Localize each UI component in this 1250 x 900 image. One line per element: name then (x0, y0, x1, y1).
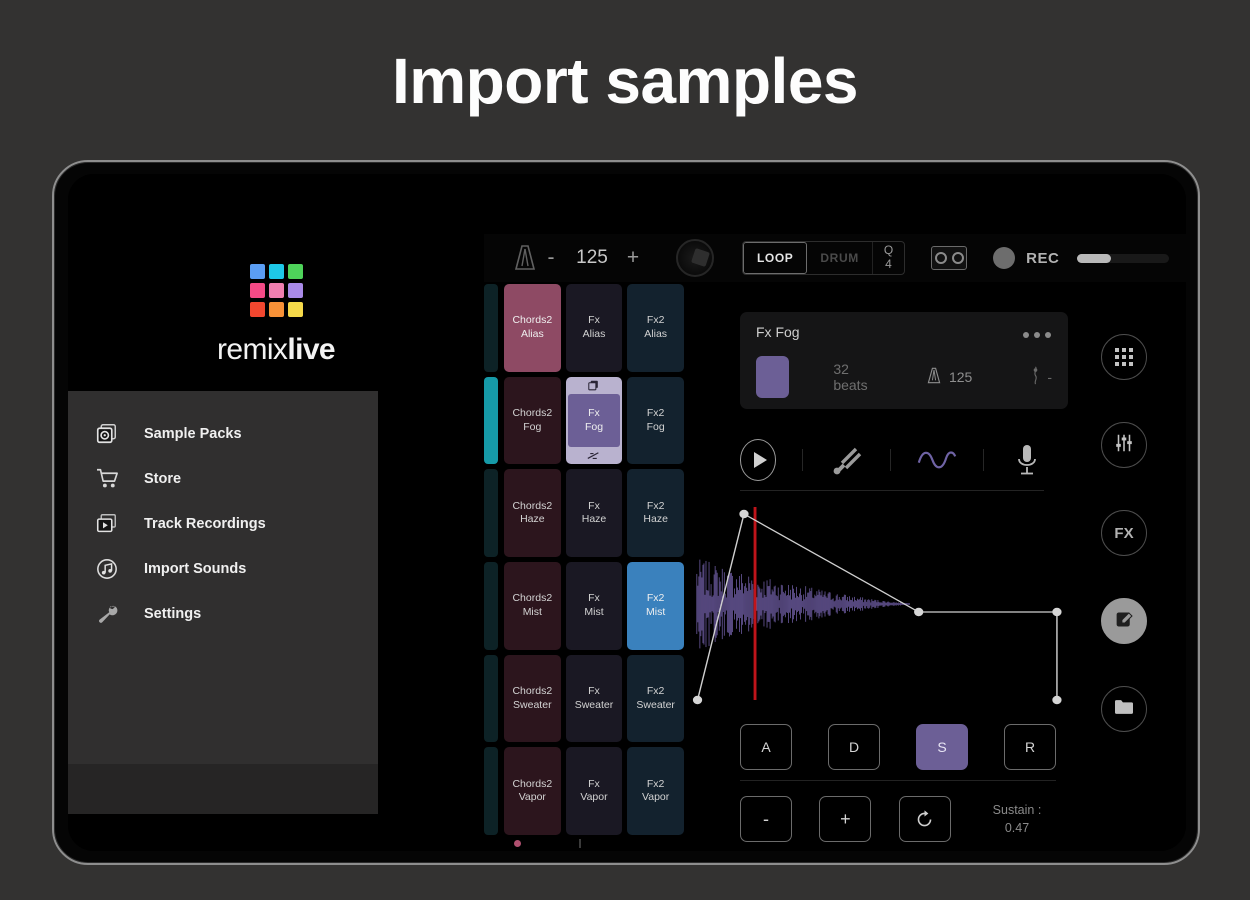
remixlive-app: - 125 + LOOP DRUM Q 4 (68, 174, 1186, 851)
microphone-icon[interactable] (1010, 443, 1044, 477)
mode-loop-button[interactable]: LOOP (743, 242, 807, 274)
tape-reel-icon[interactable] (931, 246, 967, 270)
pad-copy-icon[interactable] (566, 377, 623, 394)
wrench-icon (96, 603, 136, 624)
app-logo: remixlive (68, 264, 484, 367)
pad-column-partial[interactable] (484, 282, 498, 835)
tool-row-divider (740, 490, 1044, 491)
pad-fx2-sweater[interactable]: Fx2Sweater (627, 655, 684, 743)
pad-label: FxSweater (575, 685, 614, 712)
pad-chords2-sweater[interactable]: Chords2Sweater (504, 655, 561, 743)
menu-item-label: Track Recordings (144, 516, 266, 532)
envelope-handle-1[interactable] (739, 510, 748, 518)
pad-fx-haze[interactable]: FxHaze (566, 469, 623, 557)
dot-3 (1045, 332, 1051, 338)
logo-cell-3 (250, 283, 265, 298)
pad-partial-0[interactable] (484, 284, 498, 372)
folder-icon (1113, 698, 1135, 720)
pad-label: Chords2Vapor (512, 778, 552, 805)
quantize-button[interactable]: Q 4 (873, 242, 904, 274)
logo-cell-2 (288, 264, 303, 279)
envelope-readout: Sustain : 0.47 (978, 801, 1056, 837)
music-note-icon (1030, 365, 1041, 389)
envelope-stage-d[interactable]: D (828, 724, 880, 770)
sample-key-value: - (1047, 369, 1052, 385)
metronome-icon-small (926, 366, 942, 388)
bpm-value[interactable]: 125 (564, 247, 620, 269)
envelope-divider (740, 780, 1056, 781)
sample-beats: 32 beats (833, 361, 876, 393)
pad-label: FxAlias (583, 314, 606, 341)
menu-item-store[interactable]: Store (68, 456, 378, 501)
logo-cell-0 (250, 264, 265, 279)
envelope-stage-s[interactable]: S (916, 724, 968, 770)
pad-column-fx2: Fx2AliasFx2FogFx2HazeFx2MistFx2SweaterFx… (627, 284, 684, 835)
pad-partial-2[interactable] (484, 469, 498, 557)
pad-grid-footer (504, 835, 684, 851)
nav-menu-footer (68, 764, 378, 814)
menu-item-track-recordings[interactable]: Track Recordings (68, 501, 378, 546)
envelope-reset-button[interactable] (899, 796, 951, 842)
pad-fx2-haze[interactable]: Fx2Haze (627, 469, 684, 557)
pad-chords2-fog[interactable]: Chords2Fog (504, 377, 561, 465)
rail-button-fx-view[interactable]: FX (1101, 510, 1147, 556)
pad-column-fx: FxAliasFxFogFxHazeFxMistFxSweaterFxVapor (566, 284, 623, 835)
pad-partial-1[interactable] (484, 377, 498, 465)
music-note-circle-icon (96, 558, 136, 580)
sample-color-swatch[interactable] (756, 356, 789, 398)
pad-fx-alias[interactable]: FxAlias (566, 284, 623, 372)
rail-button-files-view[interactable] (1101, 686, 1147, 732)
pad-slice-icon[interactable] (566, 447, 623, 464)
master-volume-slider[interactable] (1077, 254, 1169, 263)
pad-scroll-tick (579, 839, 581, 848)
pad-label: Chords2Haze (512, 500, 552, 527)
pad-label: FxFog (585, 407, 603, 434)
pad-chords2-vapor[interactable]: Chords2Vapor (504, 747, 561, 835)
sample-name: Fx Fog (756, 324, 1052, 340)
reel-right-icon (952, 252, 964, 264)
rail-button-mixer-view[interactable] (1101, 422, 1147, 468)
quantize-letter: Q (884, 244, 893, 258)
bpm-increase-button[interactable]: + (620, 246, 646, 270)
logo-cell-5 (288, 283, 303, 298)
mode-drum-button[interactable]: DRUM (807, 242, 872, 274)
pad-fx2-vapor[interactable]: Fx2Vapor (627, 747, 684, 835)
pad-label: Fx2Alias (644, 314, 667, 341)
pad-fx2-alias[interactable]: Fx2Alias (627, 284, 684, 372)
pad-fx-vapor[interactable]: FxVapor (566, 747, 623, 835)
logo-cell-6 (250, 302, 265, 317)
envelope-stage-buttons: ADSR (740, 718, 1056, 776)
more-options-icon[interactable] (1023, 332, 1051, 338)
menu-item-label: Import Sounds (144, 561, 246, 577)
envelope-handle-4[interactable] (1052, 696, 1061, 704)
sample-meta-row: 32 beats 125 (756, 356, 1052, 398)
waveform-canvas (692, 504, 1068, 709)
pad-grid: Chords2AliasChords2FogChords2HazeChords2… (504, 284, 684, 835)
dot-2 (1034, 332, 1040, 338)
fx-text-icon: FX (1114, 525, 1133, 542)
pad-partial-4[interactable] (484, 655, 498, 743)
mode-selector: LOOP DRUM Q 4 (742, 241, 905, 275)
pad-label: FxMist (584, 592, 603, 619)
sample-editor: Fx Fog 32 beats (688, 282, 1068, 851)
pad-label: Chords2Sweater (512, 685, 552, 712)
faders-icon (1113, 432, 1135, 458)
logo-grid-icon (250, 264, 303, 317)
tool-divider-2 (890, 449, 891, 471)
pad-chords2-haze[interactable]: Chords2Haze (504, 469, 561, 557)
sample-info-card: Fx Fog 32 beats (740, 312, 1068, 409)
pad-fx-sweater[interactable]: FxSweater (566, 655, 623, 743)
sample-bpm-value: 125 (949, 369, 972, 385)
pad-fx-mist[interactable]: FxMist (566, 562, 623, 650)
rail-button-grid-view[interactable] (1101, 334, 1147, 380)
pad-label: Chords2Fog (512, 407, 552, 434)
rail-button-edit-view[interactable] (1101, 598, 1147, 644)
logo-word-bold: live (287, 333, 335, 366)
menu-item-label: Store (144, 471, 181, 487)
nav-menu: Sample PacksStoreTrack RecordingsImport … (68, 391, 378, 814)
dot-1 (1023, 332, 1029, 338)
pad-label: Chords2Mist (512, 592, 552, 619)
right-rail: FX (1080, 292, 1168, 851)
tuning-fork-icon[interactable] (829, 443, 863, 477)
tablet-screen: - 125 + LOOP DRUM Q 4 (68, 174, 1186, 851)
envelope-stage-a[interactable]: A (740, 724, 792, 770)
metronome-icon[interactable] (512, 244, 538, 272)
play-icon[interactable] (740, 439, 776, 481)
record-label: REC (1026, 250, 1059, 267)
menu-item-label: Settings (144, 606, 201, 622)
pad-partial-3[interactable] (484, 562, 498, 650)
envelope-readout-label: Sustain : (978, 801, 1056, 819)
pad-grid-panel: Chords2AliasChords2FogChords2HazeChords2… (484, 282, 684, 851)
grid-icon-cells (1115, 348, 1133, 366)
envelope-readout-value: 0.47 (978, 819, 1056, 837)
pad-label: Fx2Haze (643, 500, 668, 527)
tablet-device: - 125 + LOOP DRUM Q 4 (52, 160, 1200, 865)
envelope-adjust-row: - + Sustain : 0.47 (740, 790, 1056, 848)
pad-column-chords2: Chords2AliasChords2FogChords2HazeChords2… (504, 284, 561, 835)
side-menu-panel: remixlive Sample PacksStoreTrack Recordi… (68, 174, 484, 851)
sample-bpm-group: 125 (926, 366, 972, 388)
envelope-handle-0[interactable] (693, 696, 702, 704)
pad-fx-fog[interactable]: FxFog (566, 377, 623, 465)
tool-divider-1 (802, 449, 803, 471)
quantize-value: 4 (885, 258, 892, 272)
cart-icon (96, 468, 136, 489)
page-root: Import samples - 125 + (0, 0, 1250, 900)
pad-label: Fx2Vapor (642, 778, 669, 805)
envelope-handle-3[interactable] (1052, 608, 1061, 616)
video-stack-icon (96, 513, 136, 534)
pad-label: FxHaze (582, 500, 607, 527)
pad-label: Fx2Fog (647, 407, 665, 434)
pad-partial-5[interactable] (484, 747, 498, 835)
pad-chords2-alias[interactable]: Chords2Alias (504, 284, 561, 372)
pad-label: FxVapor (580, 778, 607, 805)
menu-item-label: Sample Packs (144, 426, 242, 442)
master-knob[interactable] (676, 239, 714, 277)
sample-packs-icon (96, 423, 136, 444)
envelope-decrease-button[interactable]: - (740, 796, 792, 842)
pad-chords2-mist[interactable]: Chords2Mist (504, 562, 561, 650)
menu-item-sample-packs[interactable]: Sample Packs (68, 411, 378, 456)
logo-word-light: remix (217, 333, 287, 366)
envelope-stage-r[interactable]: R (1004, 724, 1056, 770)
logo-cell-8 (288, 302, 303, 317)
tool-divider-3 (983, 449, 984, 471)
menu-item-import-sounds[interactable]: Import Sounds (68, 546, 378, 591)
bpm-decrease-button[interactable]: - (538, 246, 564, 270)
logo-cell-1 (269, 264, 284, 279)
top-toolbar: - 125 + LOOP DRUM Q 4 (484, 234, 1186, 282)
edit-pencil-icon (1114, 609, 1135, 634)
editor-tool-row (740, 434, 1044, 486)
pad-page-indicator (514, 840, 521, 847)
sample-key-group: - (1030, 365, 1052, 389)
record-button[interactable] (993, 247, 1015, 269)
waveform-display[interactable] (692, 504, 1068, 709)
envelope-increase-button[interactable]: + (819, 796, 871, 842)
pad-label: Chords2Alias (512, 314, 552, 341)
envelope-handle-2[interactable] (914, 608, 923, 616)
logo-wordmark: remixlive (68, 333, 484, 367)
pad-fx2-fog[interactable]: Fx2Fog (627, 377, 684, 465)
grid-icon (1115, 348, 1133, 366)
logo-cell-7 (269, 302, 284, 317)
waveform-icon[interactable] (917, 447, 957, 473)
pad-label: Fx2Mist (646, 592, 665, 619)
logo-cell-4 (269, 283, 284, 298)
reel-left-icon (935, 252, 947, 264)
menu-item-settings[interactable]: Settings (68, 591, 378, 636)
pad-label: Fx2Sweater (636, 685, 675, 712)
page-title: Import samples (0, 44, 1250, 118)
pad-fx2-mist[interactable]: Fx2Mist (627, 562, 684, 650)
